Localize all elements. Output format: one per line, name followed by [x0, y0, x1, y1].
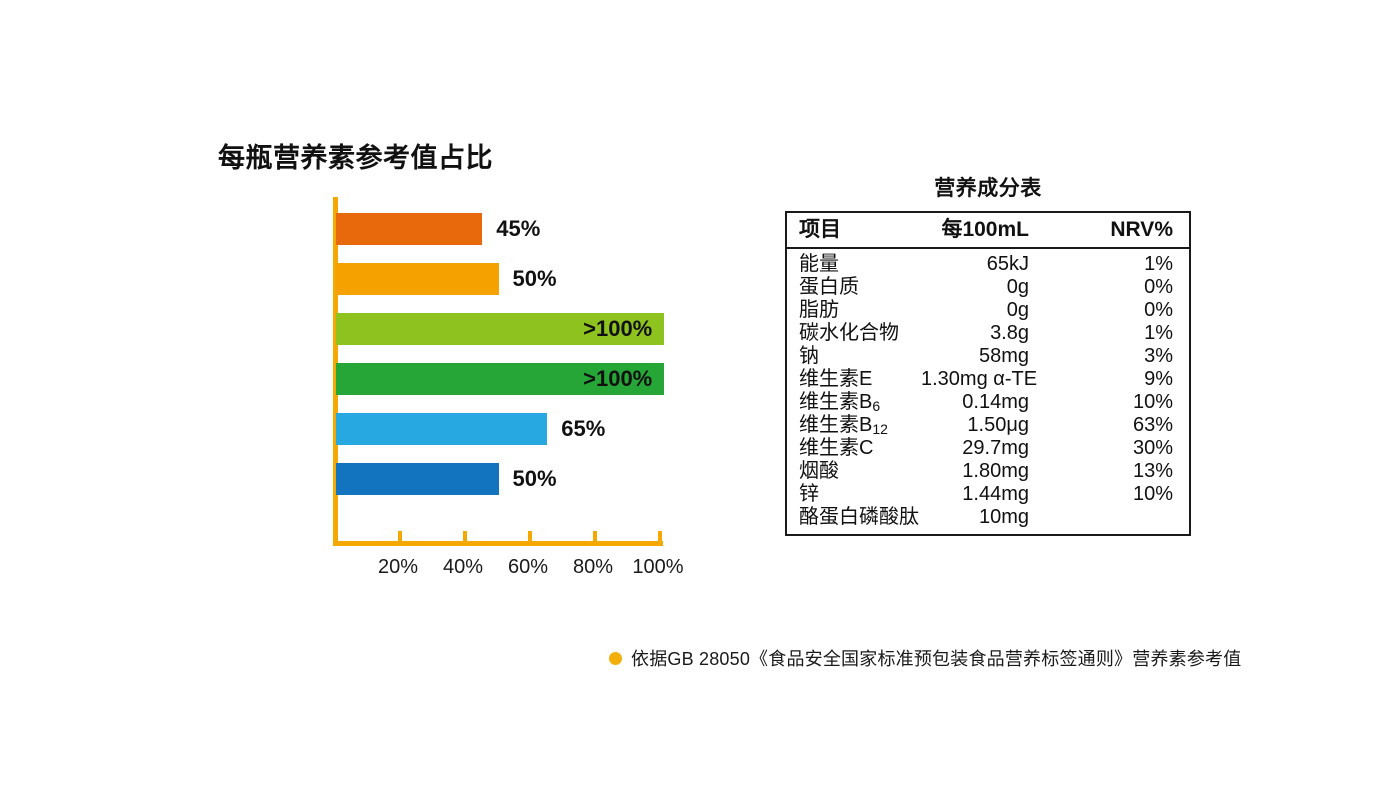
cell-nrv: 10% — [1055, 391, 1189, 414]
chart-bar-row: 维生素E45% — [0, 213, 740, 245]
cell-item: 钠 — [787, 345, 921, 368]
cell-item-subscript: 12 — [872, 421, 888, 437]
table-row: 维生素E1.30mg α-TE9% — [787, 368, 1189, 391]
table-row: 碳水化合物3.8g1% — [787, 322, 1189, 345]
chart-bar-row: 烟酸65% — [0, 413, 740, 445]
table-row: 烟酸1.80mg13% — [787, 460, 1189, 483]
cell-item: 维生素C — [787, 437, 921, 460]
x-axis-tick — [463, 531, 467, 543]
cell-nrv — [1055, 506, 1189, 534]
nutrition-table-body: 能量65kJ1%蛋白质0g0%脂肪0g0%碳水化合物3.8g1%钠58mg3%维… — [787, 248, 1189, 534]
nutrition-table: 项目 每100mL NRV% 能量65kJ1%蛋白质0g0%脂肪0g0%碳水化合… — [787, 213, 1189, 534]
table-row: 酪蛋白磷酸肽10mg — [787, 506, 1189, 534]
bar-value-label: 65% — [561, 413, 605, 445]
chart-bar-row: 维生素B650% — [0, 263, 740, 295]
table-row: 维生素B121.50μg63% — [787, 414, 1189, 437]
table-row: 锌1.44mg10% — [787, 483, 1189, 506]
cell-nrv: 13% — [1055, 460, 1189, 483]
cell-amount: 1.50μg — [921, 414, 1055, 437]
cell-amount: 0.14mg — [921, 391, 1055, 414]
bullet-icon — [609, 652, 622, 665]
chart-bar — [336, 413, 547, 445]
cell-amount: 58mg — [921, 345, 1055, 368]
table-row: 蛋白质0g0% — [787, 276, 1189, 299]
x-axis-tick-label: 80% — [558, 556, 628, 579]
table-row: 维生素B60.14mg10% — [787, 391, 1189, 414]
bar-value-label: >100% — [566, 313, 652, 345]
x-axis-tick — [593, 531, 597, 543]
chart-bar-row: 维生素B12>100% — [0, 313, 740, 345]
cell-nrv: 30% — [1055, 437, 1189, 460]
nutrient-percentage-chart: 每瓶营养素参考值占比 20%40%60%80%100% 维生素E45%维生素B6… — [0, 0, 740, 640]
cell-amount: 0g — [921, 276, 1055, 299]
x-axis-tick — [398, 531, 402, 543]
nutrition-table-border: 项目 每100mL NRV% 能量65kJ1%蛋白质0g0%脂肪0g0%碳水化合… — [785, 211, 1191, 536]
cell-amount: 0g — [921, 299, 1055, 322]
bar-value-label: >100% — [566, 363, 652, 395]
table-header-row: 项目 每100mL NRV% — [787, 213, 1189, 248]
cell-item: 维生素B12 — [787, 414, 921, 437]
table-row: 脂肪0g0% — [787, 299, 1189, 322]
table-row: 能量65kJ1% — [787, 248, 1189, 276]
cell-amount: 1.80mg — [921, 460, 1055, 483]
x-axis-tick-label: 60% — [493, 556, 563, 579]
cell-item: 脂肪 — [787, 299, 921, 322]
cell-amount: 65kJ — [921, 248, 1055, 276]
cell-nrv: 9% — [1055, 368, 1189, 391]
table-row: 钠58mg3% — [787, 345, 1189, 368]
cell-item-subscript: 6 — [872, 398, 880, 414]
chart-bar — [336, 213, 482, 245]
cell-nrv: 3% — [1055, 345, 1189, 368]
nutrition-facts-panel: 营养成分表 项目 每100mL NRV% 能量65kJ1%蛋白质0g0%脂肪0g… — [785, 172, 1191, 536]
cell-nrv: 0% — [1055, 276, 1189, 299]
column-header-item: 项目 — [787, 213, 921, 248]
chart-bar-row: 维生素C>100% — [0, 363, 740, 395]
cell-nrv: 0% — [1055, 299, 1189, 322]
cell-item: 蛋白质 — [787, 276, 921, 299]
cell-nrv: 1% — [1055, 248, 1189, 276]
bar-value-label: 50% — [513, 463, 557, 495]
x-axis-tick-label: 100% — [623, 556, 693, 579]
cell-item: 锌 — [787, 483, 921, 506]
cell-amount: 10mg — [921, 506, 1055, 534]
cell-item: 维生素B6 — [787, 391, 921, 414]
x-axis-tick — [528, 531, 532, 543]
chart-bar — [336, 263, 499, 295]
bar-value-label: 50% — [513, 263, 557, 295]
x-axis-tick-label: 40% — [428, 556, 498, 579]
nutrition-table-caption: 营养成分表 — [785, 172, 1191, 202]
chart-title: 每瓶营养素参考值占比 — [218, 136, 493, 175]
cell-amount: 29.7mg — [921, 437, 1055, 460]
column-header-nrv: NRV% — [1055, 213, 1189, 248]
chart-x-axis-line — [333, 541, 663, 546]
cell-item: 维生素E — [787, 368, 921, 391]
cell-item: 烟酸 — [787, 460, 921, 483]
cell-item: 碳水化合物 — [787, 322, 921, 345]
nutrition-table-head: 项目 每100mL NRV% — [787, 213, 1189, 248]
x-axis-tick-label: 20% — [363, 556, 433, 579]
cell-amount: 1.44mg — [921, 483, 1055, 506]
footnote-text: 依据GB 28050《食品安全国家标准预包装食品营养标签通则》营养素参考值 — [631, 645, 1241, 671]
chart-bar — [336, 463, 499, 495]
cell-amount: 3.8g — [921, 322, 1055, 345]
table-row: 维生素C29.7mg30% — [787, 437, 1189, 460]
bar-value-label: 45% — [496, 213, 540, 245]
cell-item: 酪蛋白磷酸肽 — [787, 506, 921, 534]
x-axis-tick — [658, 531, 662, 543]
cell-nrv: 63% — [1055, 414, 1189, 437]
column-header-amount: 每100mL — [921, 213, 1055, 248]
cell-amount: 1.30mg α-TE — [921, 368, 1055, 391]
footnote: 依据GB 28050《食品安全国家标准预包装食品营养标签通则》营养素参考值 — [609, 645, 1241, 671]
cell-item: 能量 — [787, 248, 921, 276]
cell-nrv: 10% — [1055, 483, 1189, 506]
cell-nrv: 1% — [1055, 322, 1189, 345]
chart-bar-row: 锌50% — [0, 463, 740, 495]
